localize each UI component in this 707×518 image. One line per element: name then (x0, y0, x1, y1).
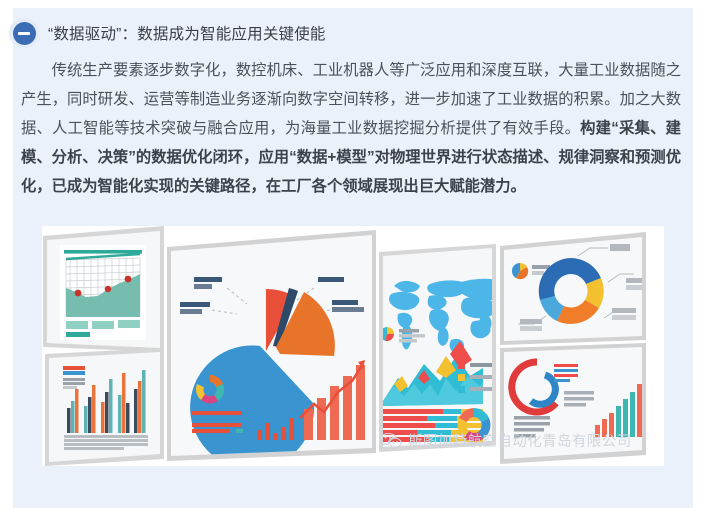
legend-swatches (458, 362, 496, 393)
dashboard-illustration (42, 226, 664, 466)
body-paragraph: 传统生产要素逐步数字化，数控机床、工业机器人等广泛应用和深度互联，大量工业数据随… (21, 56, 681, 201)
page-title: “数据驱动”：数据成为智能应用关键使能 (48, 22, 326, 44)
footer-blocks (66, 320, 140, 329)
section-header: “数据驱动”：数据成为智能应用关键使能 (0, 18, 326, 48)
minus-circle-icon (9, 18, 39, 48)
minus-glyph (18, 32, 30, 35)
panel-area-chart (60, 245, 146, 340)
minus-circle-inner (13, 22, 36, 45)
page-root: “数据驱动”：数据成为智能应用关键使能 传统生产要素逐步数字化，数控机床、工业机… (0, 0, 707, 518)
illustration-card (42, 226, 664, 466)
